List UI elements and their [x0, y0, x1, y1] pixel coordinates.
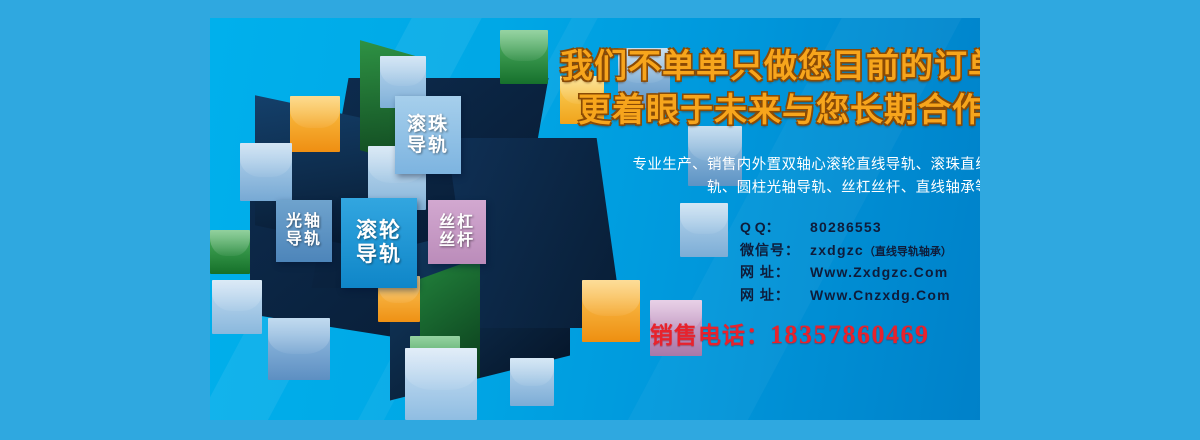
- contact-label: 网 址：: [740, 284, 810, 307]
- product-label-line2: 导轨: [286, 231, 322, 249]
- decorative-cube: [405, 348, 477, 420]
- sales-phone-number: 18357860469: [770, 320, 930, 349]
- banner-stage: 滚珠 导轨 光轴 导轨 滚轮 导轨 丝杠 丝杆 我们不单单只做您目前的订单 更着…: [0, 0, 1200, 440]
- contact-row-qq: Q Q： 80286553: [740, 216, 980, 239]
- headline-line-2: 更着眼于未来与您长期合作: [560, 88, 980, 132]
- product-label-line1: 滚珠: [407, 114, 449, 135]
- product-label-line1: 滚轮: [356, 219, 402, 243]
- product-label-lead-screw: 丝杠 丝杆: [428, 200, 486, 264]
- company-description: 专业生产、销售内外置双轴心滚轮直线导轨、滚珠直线导轨、圆柱光轴导轨、丝杠丝杆、直…: [610, 154, 980, 201]
- contact-label: 微信号：: [740, 239, 810, 262]
- decorative-cube: [268, 318, 330, 380]
- contact-row-wechat: 微信号： zxdgzc （直线导轨轴承）: [740, 239, 980, 262]
- contact-note: （直线导轨轴承）: [864, 244, 952, 262]
- decorative-cube: [680, 203, 728, 257]
- contact-row-website-2: 网 址： Www.Cnzxdg.Com: [740, 284, 980, 307]
- contact-value[interactable]: Www.Zxdgzc.Com: [810, 261, 948, 284]
- decorative-cube: [240, 143, 292, 201]
- headline-line-1: 我们不单单只做您目前的订单: [560, 44, 980, 88]
- contact-label: Q Q：: [740, 216, 810, 239]
- product-label-line2: 导轨: [356, 243, 402, 267]
- product-label-line1: 丝杠: [439, 214, 475, 232]
- contact-value: 80286553: [810, 216, 882, 239]
- sales-phone: 销售电话：18357860469: [650, 316, 930, 350]
- contact-label: 网 址：: [740, 261, 810, 284]
- decorative-cube: [212, 280, 262, 334]
- decorative-cube: [510, 358, 554, 406]
- contact-row-website-1: 网 址： Www.Zxdgzc.Com: [740, 261, 980, 284]
- product-label-ball-guide: 滚珠 导轨: [395, 96, 461, 174]
- cube-cluster-graphic: 滚珠 导轨 光轴 导轨 滚轮 导轨 丝杠 丝杆: [210, 18, 610, 420]
- product-label-shaft-guide: 光轴 导轨: [276, 200, 332, 262]
- decorative-cube: [210, 230, 250, 274]
- decorative-cube: [582, 280, 640, 342]
- decorative-cube: [500, 30, 548, 84]
- promo-banner-panel: 滚珠 导轨 光轴 导轨 滚轮 导轨 丝杠 丝杆 我们不单单只做您目前的订单 更着…: [210, 18, 980, 420]
- product-label-roller-guide: 滚轮 导轨: [341, 198, 417, 288]
- contact-info-block: Q Q： 80286553 微信号： zxdgzc （直线导轨轴承） 网 址： …: [740, 216, 980, 307]
- product-label-line1: 光轴: [286, 213, 322, 231]
- product-label-line2: 丝杆: [439, 232, 475, 250]
- product-label-line2: 导轨: [407, 135, 449, 156]
- contact-value[interactable]: Www.Cnzxdg.Com: [810, 284, 951, 307]
- headline: 我们不单单只做您目前的订单 更着眼于未来与您长期合作: [560, 44, 980, 132]
- sales-phone-label: 销售电话：: [650, 322, 770, 348]
- contact-value: zxdgzc: [810, 239, 864, 262]
- decorative-cube: [290, 96, 340, 152]
